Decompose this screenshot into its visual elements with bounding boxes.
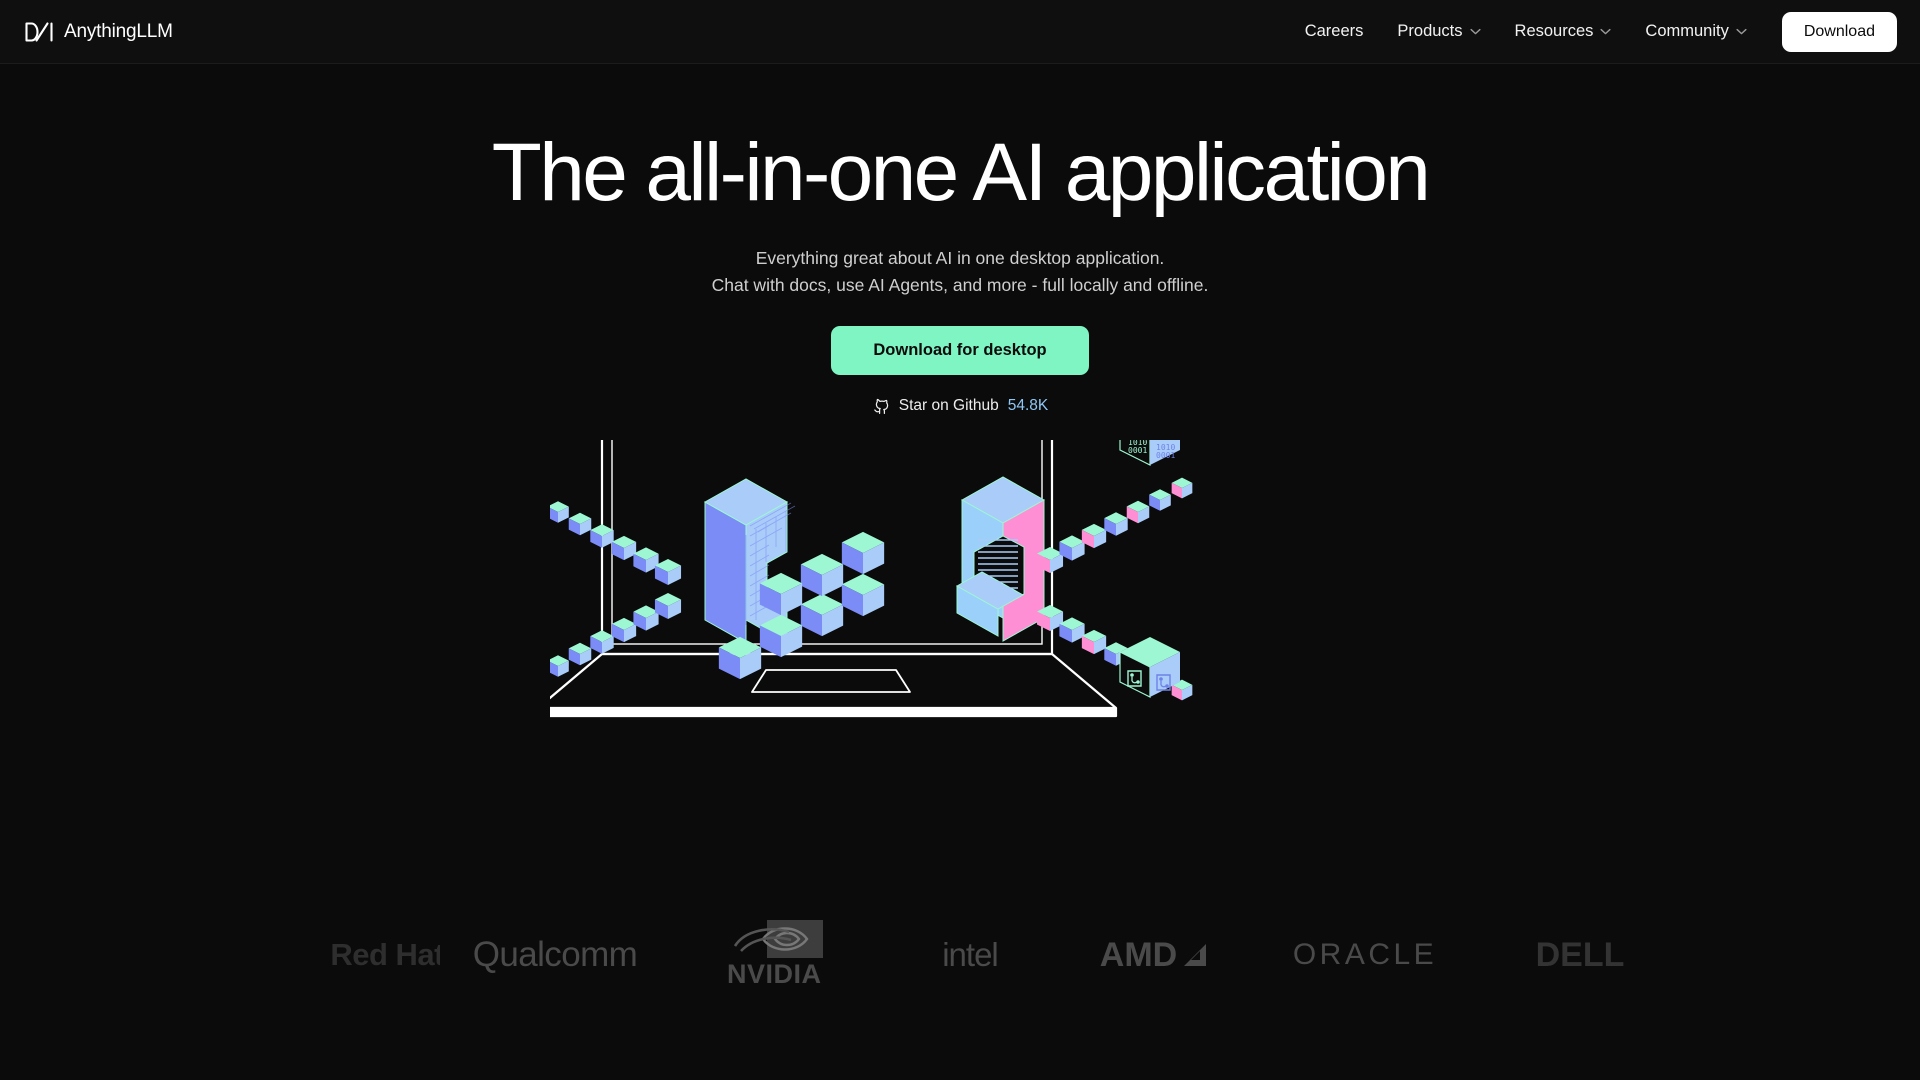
logo-amd: AMD [1060, 920, 1250, 990]
hero-subtitle-line1: Everything great about AI in one desktop… [0, 245, 1920, 272]
download-button[interactable]: Download [1782, 12, 1897, 52]
cube-trail-upper-left [550, 490, 681, 585]
logo-oracle: ORACLE [1250, 920, 1480, 990]
nav-item-resources[interactable]: Resources [1498, 14, 1629, 49]
logo-intel: intel [880, 920, 1060, 990]
logo-oracle-label: ORACLE [1293, 938, 1437, 972]
logo-dell-text: DELL [1536, 936, 1625, 975]
hero-subtitle-line2: Chat with docs, use AI Agents, and more … [0, 272, 1920, 299]
iso-block-u [957, 477, 1044, 641]
logo-dell-label: DELL [1536, 936, 1625, 975]
isometric-laptop-illustration: ⌘ ⌘ 1010 0001 1010 0001 [550, 440, 1370, 860]
star-on-github-label: Star on Github [899, 397, 999, 415]
nav-item-products-label: Products [1397, 22, 1462, 41]
logo-redhat-label: Red Hat [330, 937, 440, 973]
nav-item-careers-label: Careers [1305, 22, 1364, 41]
anythingllm-mark-icon [25, 22, 53, 42]
logo-qualcomm-label: Qualcomm [473, 935, 637, 975]
brand-name: AnythingLLM [64, 21, 173, 43]
nav-item-careers[interactable]: Careers [1288, 14, 1381, 49]
star-on-github-link[interactable]: Star on Github 54.8K [872, 397, 1048, 415]
nav-item-community-label: Community [1645, 22, 1728, 41]
github-icon [872, 397, 890, 415]
github-star-count: 54.8K [1008, 397, 1049, 415]
download-for-desktop-button[interactable]: Download for desktop [831, 326, 1088, 375]
logo-amd-label: AMD [1100, 936, 1210, 975]
partner-logo-bar: Red Hat Qualcomm NVIDIA intel AMD [0, 900, 1920, 1010]
chevron-down-icon [1600, 28, 1611, 35]
cube-trail-lower-left [550, 593, 681, 688]
chevron-down-icon [1470, 28, 1481, 35]
cube-binary-code: 1010 0001 1010 0001 [1120, 440, 1180, 465]
top-navigation-bar: AnythingLLM Careers Products Resources C… [0, 0, 1920, 64]
logo-nvidia-label: NVIDIA [727, 959, 822, 990]
cube-trail-upper-right [1037, 478, 1192, 573]
nvidia-eye-icon [727, 920, 823, 958]
logo-amd-text: AMD [1100, 936, 1177, 975]
nav-item-community[interactable]: Community [1628, 14, 1763, 49]
logo-dell: DELL [1480, 920, 1680, 990]
nav-item-resources-label: Resources [1515, 22, 1594, 41]
hero-section: The all-in-one AI application Everything… [0, 64, 1920, 420]
illustration-svg: ⌘ ⌘ 1010 0001 1010 0001 [550, 440, 1370, 860]
hero-subtitle: Everything great about AI in one desktop… [0, 245, 1920, 299]
logo-intel-label: intel [942, 936, 998, 974]
svg-text:0001: 0001 [1156, 451, 1175, 460]
brand-logo[interactable]: AnythingLLM [25, 21, 173, 43]
chevron-down-icon [1736, 28, 1747, 35]
logo-redhat: Red Hat [240, 920, 440, 990]
logo-nvidia: NVIDIA [670, 920, 880, 990]
nav-item-products[interactable]: Products [1380, 14, 1497, 49]
nav-links: Careers Products Resources Community Dow… [1288, 12, 1897, 52]
amd-arrow-icon [1180, 940, 1210, 970]
logo-qualcomm: Qualcomm [440, 920, 670, 990]
cta-container: Download for desktop [0, 326, 1920, 375]
page-title: The all-in-one AI application [0, 130, 1920, 216]
svg-text:0001: 0001 [1128, 446, 1147, 455]
cube-git-branch [1120, 637, 1180, 697]
